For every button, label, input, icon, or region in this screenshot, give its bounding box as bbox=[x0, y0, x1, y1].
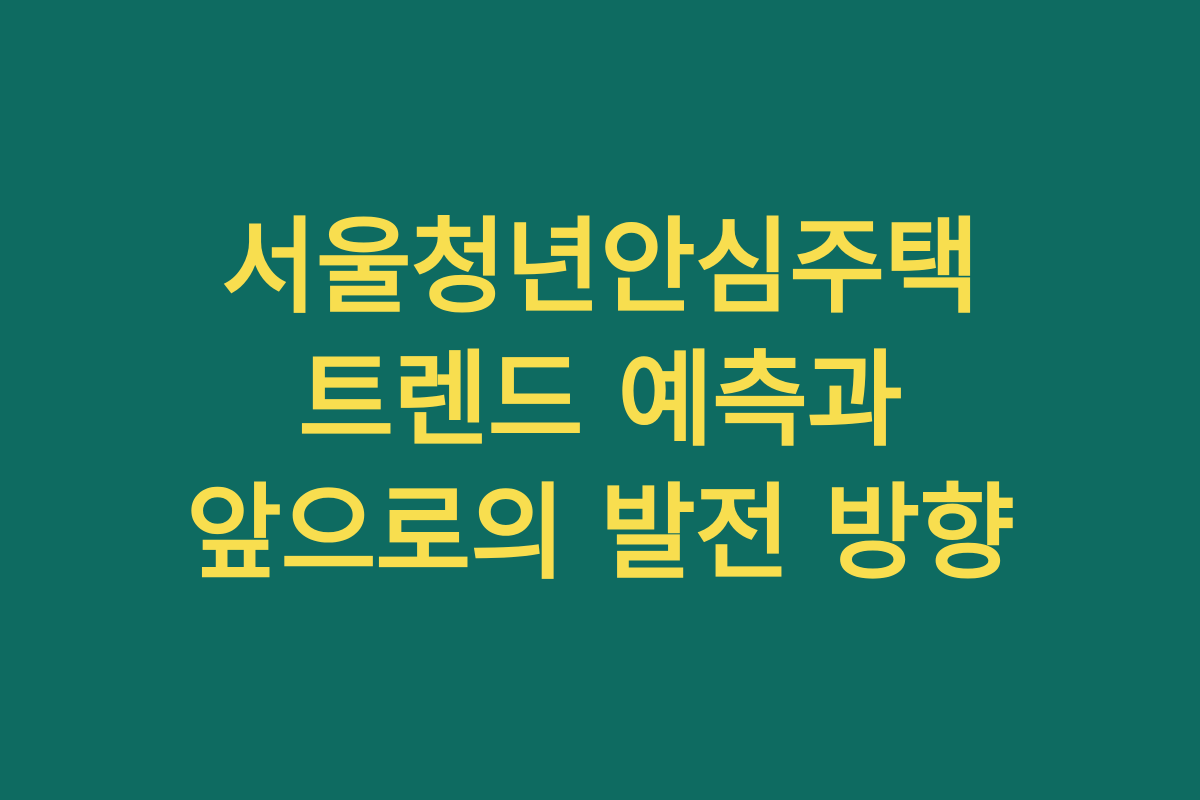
title-banner: 서울청년안심주택 트렌드 예측과 앞으로의 발전 방향 bbox=[0, 0, 1200, 800]
page-title: 서울청년안심주택 트렌드 예측과 앞으로의 발전 방향 bbox=[120, 201, 1080, 600]
